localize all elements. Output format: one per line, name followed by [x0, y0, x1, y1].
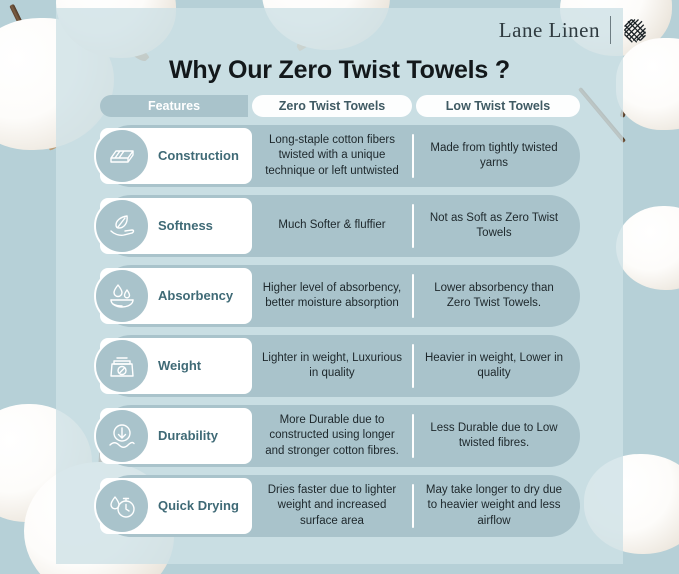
down-arrow-waves-icon	[94, 408, 150, 464]
hand-with-feather-icon	[94, 198, 150, 254]
table-row: Durability More Durable due to construct…	[100, 405, 580, 467]
brand-lockup: Lane Linen	[499, 16, 649, 44]
feature-label: Construction	[158, 149, 239, 164]
column-header-features: Features	[100, 95, 248, 117]
folded-towel-icon	[94, 128, 150, 184]
feature-cell: Softness	[100, 198, 252, 254]
feature-label: Quick Drying	[158, 499, 239, 514]
page-title: Why Our Zero Twist Towels ?	[0, 56, 679, 85]
cell-low-twist: Heavier in weight, Lower in quality	[414, 335, 580, 397]
table-row: Quick Drying Dries faster due to lighter…	[100, 475, 580, 537]
table-row: Construction Long-staple cotton fibers t…	[100, 125, 580, 187]
cell-zero-twist: Long-staple cotton fibers twisted with a…	[252, 125, 412, 187]
feature-cell: Construction	[100, 128, 252, 184]
cell-low-twist: May take longer to dry due to heavier we…	[414, 475, 580, 537]
cell-low-twist: Lower absorbency than Zero Twist Towels.	[414, 265, 580, 327]
cell-low-twist: Made from tightly twisted yarns	[414, 125, 580, 187]
feature-cell: Quick Drying	[100, 478, 252, 534]
feature-label: Weight	[158, 359, 201, 374]
table-row: Softness Much Softer & fluffier Not as S…	[100, 195, 580, 257]
comparison-table: Features Zero Twist Towels Low Twist Tow…	[100, 95, 580, 545]
cell-zero-twist: Higher level of absorbency, better moist…	[252, 265, 412, 327]
woven-lattice-logo-icon	[621, 16, 649, 44]
column-header-low-twist: Low Twist Towels	[416, 95, 580, 117]
cotton-boll	[616, 206, 679, 290]
column-header-zero-twist: Zero Twist Towels	[252, 95, 412, 117]
brand-name: Lane Linen	[499, 18, 600, 43]
water-droplets-bowl-icon	[94, 268, 150, 324]
cell-zero-twist: Lighter in weight, Luxurious in quality	[252, 335, 412, 397]
feature-label: Durability	[158, 429, 218, 444]
cell-zero-twist: Dries faster due to lighter weight and i…	[252, 475, 412, 537]
infographic-poster: Lane Linen Why Our Zero Twist Towels ? F…	[0, 0, 679, 574]
table-row: Weight Lighter in weight, Luxurious in q…	[100, 335, 580, 397]
table-row: Absorbency Higher level of absorbency, b…	[100, 265, 580, 327]
table-header-row: Features Zero Twist Towels Low Twist Tow…	[100, 95, 580, 117]
feature-label: Absorbency	[158, 289, 233, 304]
feature-cell: Absorbency	[100, 268, 252, 324]
feature-cell: Durability	[100, 408, 252, 464]
kitchen-scale-icon	[94, 338, 150, 394]
cell-zero-twist: More Durable due to constructed using lo…	[252, 405, 412, 467]
cell-low-twist: Less Durable due to Low twisted fibres.	[414, 405, 580, 467]
droplet-stopwatch-icon	[94, 478, 150, 534]
cell-low-twist: Not as Soft as Zero Twist Towels	[414, 195, 580, 257]
brand-divider	[610, 16, 611, 44]
feature-cell: Weight	[100, 338, 252, 394]
cell-zero-twist: Much Softer & fluffier	[252, 195, 412, 257]
feature-label: Softness	[158, 219, 213, 234]
